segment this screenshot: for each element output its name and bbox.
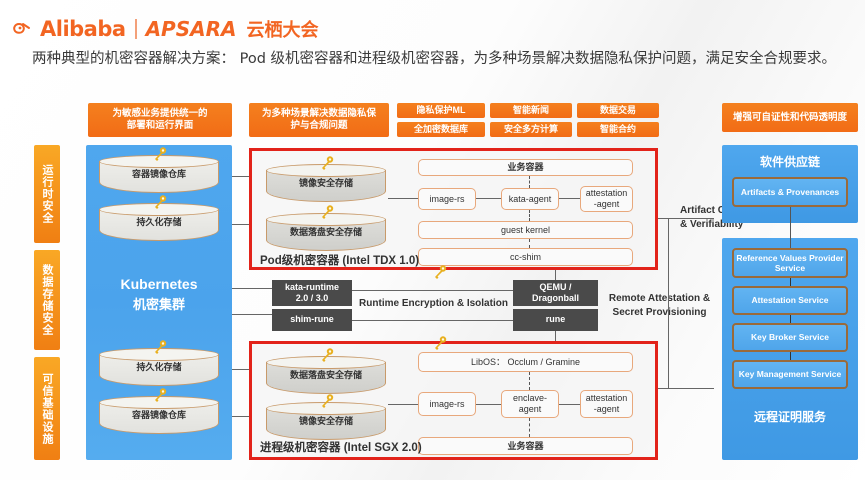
box-label: 业务容器 [507,441,543,452]
key-icon [152,194,168,210]
sgx-box-title: 进程级机密容器 (Intel SGX 2.0) [260,439,422,455]
tag-smart-news: 智能新闻 [490,103,572,118]
kata-runtime-box: kata-runtime 2.0 / 3.0 [272,280,352,306]
key-icon [432,335,448,351]
connector-dashed [529,418,530,437]
sgx-confidential-container-box: 数据落盘安全存储 镜像安全存储 LibOS： Occlum / Gramine … [249,341,658,460]
cylinder-label: 持久化存储 [99,215,219,228]
tag-mpc: 安全多方计算 [490,122,572,137]
connector [232,176,250,177]
pod-confidential-container-box: 镜像安全存储 数据落盘安全存储 业务容器 image-rs kata-agent [249,148,658,270]
box-label: image-rs [429,194,464,205]
cylinder-label: 数据落盘安全存储 [266,368,386,381]
connector [790,315,791,323]
kubernetes-name-cn: 机密集群 [86,294,232,313]
rune-box: rune [513,309,598,331]
box-label: Key Broker Service [751,332,829,342]
slide-subtitle: 两种典型的机密容器解决方案： Pod 级机密容器和进程级机密容器，为多种场景解决… [32,48,842,70]
box-label-line1: enclave- [513,393,547,403]
runtime-encryption-label: Runtime Encryption & Isolation [356,297,511,311]
connector-dashed [529,239,530,248]
key-icon [319,204,335,220]
connector [232,314,272,315]
banner-left: 为敏感业务提供统一的 部署和运行界面 [88,103,232,137]
remote-attestation-line1: Remote Attestation & [609,293,710,304]
box-label-line1: kata-runtime [285,282,339,292]
key-icon [152,146,168,162]
attestation-service-panel: Reference Values Provider Service Attest… [722,238,858,460]
sgx-libos: LibOS： Occlum / Gramine [418,352,633,372]
qemu-dragonball-box: QEMU / Dragonball [513,280,598,306]
slide-page: Alibaba APSARA 云栖大会 两种典型的机密容器解决方案： Pod 级… [0,0,865,480]
banner-mid: 为多种场景解决数据隐私保 护与合规问题 [249,103,389,137]
cylinder-label: 持久化存储 [99,360,219,373]
box-label-line1: QEMU / [539,282,571,292]
box-label-line2: 2.0 / 3.0 [296,293,329,303]
alibaba-swirl-icon [12,19,34,39]
box-label: 业务容器 [507,162,543,173]
key-icon [319,155,335,171]
shim-rune-box: shim-rune [272,309,352,331]
connector [790,207,791,248]
connector-dashed [529,210,530,221]
sgx-enclave-agent: enclave- agent [501,390,559,418]
key-icon [432,264,448,280]
box-label-line2: agent [519,404,542,414]
connector [232,288,272,289]
architecture-diagram: 为敏感业务提供统一的 部署和运行界面 为多种场景解决数据隐私保 护与合规问题 隐… [0,98,865,468]
connector [658,388,714,389]
attestation-service-box[interactable]: Attestation Service [732,286,848,315]
connector [668,218,669,388]
banner-left-line2: 部署和运行界面 [127,120,194,131]
box-label-line2: Service [775,263,805,273]
connector [232,224,250,225]
key-icon [319,347,335,363]
tag-label: 智能新闻 [513,105,549,116]
cylinder-label: 镜像安全存储 [266,414,386,427]
box-label: LibOS： Occlum / Gramine [471,357,580,368]
side-label-text: 运行时安全 [39,164,55,224]
box-label: kata-agent [509,194,552,205]
box-label: cc-shim [510,252,541,263]
connector [476,404,501,405]
tag-label: 智能合约 [600,124,636,135]
artifacts-provenances-box[interactable]: Artifacts & Provenances [732,177,848,207]
runtime-encryption-text: Runtime Encryption & Isolation [359,298,508,309]
pod-business-container: 业务容器 [418,159,633,176]
side-label-trusted-infra: 可信基础设施 [34,357,60,460]
supply-chain-title: 软件供应链 [722,153,858,170]
banner-right: 增强可自证性和代码透明度 [722,103,858,132]
banner-left-line1: 为敏感业务提供统一的 [112,108,207,119]
side-label-runtime-security: 运行时安全 [34,145,60,243]
box-label: Attestation Service [752,295,829,305]
brand-divider [135,19,137,39]
connector [790,352,791,360]
brand-logo: Alibaba APSARA 云栖大会 [12,16,318,42]
connector-dashed [529,372,530,390]
connector [790,278,791,286]
box-label-line2: -agent [594,404,620,414]
banner-mid-line1: 为多种场景解决数据隐私保 [262,108,376,119]
cylinder-label: 容器镜像仓库 [99,408,219,421]
connector [388,198,418,199]
box-label: Artifacts & Provenances [741,187,839,197]
sgx-attestation-agent: attestation -agent [580,390,633,418]
side-label-storage-security: 数据存储安全 [34,250,60,350]
tag-encrypted-db: 全加密数据库 [397,122,485,137]
pod-box-title: Pod级机密容器 (Intel TDX 1.0) [260,252,419,268]
box-label: Key Management Service [739,369,842,379]
pod-kata-agent: kata-agent [501,188,559,210]
cylinder-label: 数据落盘安全存储 [266,225,386,238]
tag-label: 安全多方计算 [504,124,558,135]
connector-dashed [529,176,530,188]
remote-attestation-line2: Secret Provisioning [613,307,707,318]
side-label-text: 可信基础设施 [39,373,55,445]
box-label-line1: attestation [586,393,628,403]
key-icon [152,387,168,403]
box-label: image-rs [429,399,464,410]
connector [559,404,580,405]
cylinder-label: 镜像安全存储 [266,176,386,189]
box-label-line2: -agent [594,199,620,209]
connector [559,198,580,199]
sgx-image-rs: image-rs [418,392,476,416]
connector [476,198,501,199]
connector [352,290,513,291]
sgx-business-container: 业务容器 [418,437,633,455]
tag-label: 全加密数据库 [414,124,468,135]
box-label-line1: attestation [586,188,628,198]
box-label: rune [546,314,566,325]
remote-attestation-label: Remote Attestation & Secret Provisioning [602,292,717,319]
kubernetes-title: Kubernetes 机密集群 [86,276,232,313]
box-label-line1: Reference Values Provider [736,253,843,263]
reference-values-provider-service-box[interactable]: Reference Values Provider Service [732,248,848,278]
tag-privacy-ml: 隐私保护ML [397,103,485,118]
tag-smart-contract: 智能合约 [577,122,659,137]
box-label: guest kernel [501,225,550,236]
banner-mid-line2: 护与合规问题 [290,120,347,131]
box-label: shim-rune [290,314,334,325]
brand-apsara-text: APSARA [146,17,237,41]
banner-right-label: 增强可自证性和代码透明度 [733,112,847,124]
key-icon [152,339,168,355]
key-management-service-box[interactable]: Key Management Service [732,360,848,389]
connector [555,270,556,280]
tag-label: 隐私保护ML [417,105,466,116]
side-label-text: 数据存储安全 [39,264,55,336]
tag-label: 数据交易 [600,105,636,116]
connector [232,416,250,417]
brand-alibaba-text: Alibaba [40,17,126,41]
tag-data-trade: 数据交易 [577,103,659,118]
key-broker-service-box[interactable]: Key Broker Service [732,323,848,352]
pod-attestation-agent: attestation -agent [580,186,633,212]
attestation-service-title: 远程证明服务 [722,408,858,425]
connector [388,404,418,405]
pod-image-rs: image-rs [418,188,476,210]
cylinder-label: 容器镜像仓库 [99,167,219,180]
connector [352,320,513,321]
brand-yunqi-text: 云栖大会 [246,16,318,42]
pod-guest-kernel: guest kernel [418,221,633,239]
key-icon [319,393,335,409]
box-label-line2: Dragonball [532,293,579,303]
kubernetes-name-en: Kubernetes [86,276,232,292]
connector [232,369,250,370]
pod-cc-shim: cc-shim [418,248,633,266]
